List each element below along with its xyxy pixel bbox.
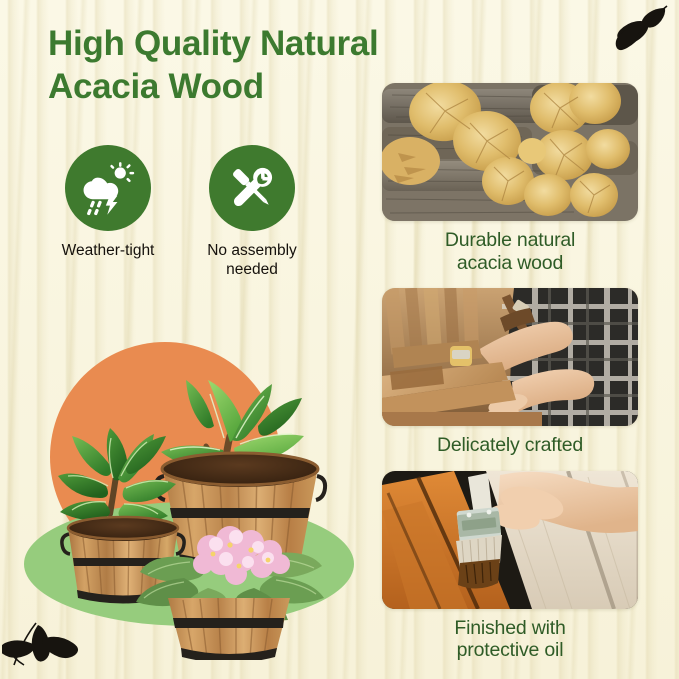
- leaf-sprig-bottom-left: [2, 609, 84, 675]
- stacked-acacia-logs-photo: [382, 83, 638, 221]
- feature-label: No assembly needed: [207, 242, 297, 279]
- card-caption: Durable natural acacia wood: [382, 221, 638, 280]
- weather-badge-circle: [65, 145, 151, 231]
- weather-cloud-sun-lightning-icon: [79, 159, 137, 217]
- product-infographic: High Quality Natural Acacia Wood: [0, 0, 679, 679]
- feature-weather-tight: Weather-tight: [50, 145, 166, 279]
- feature-no-assembly: No assembly needed: [194, 145, 310, 279]
- card-delicately-crafted: Delicately crafted: [382, 288, 638, 463]
- leaf-sprig-top-right: [603, 2, 669, 58]
- fiddle-leaf-leaves: [58, 428, 176, 523]
- tools-badge-circle: [209, 145, 295, 231]
- card-caption: Finished with protective oil: [382, 609, 638, 668]
- wrench-screwdriver-icon: [225, 161, 279, 215]
- craftsperson-measuring-wood-photo: [382, 288, 638, 426]
- feature-badges: Weather-tight: [50, 145, 310, 279]
- card-finished-with-protective-oil: Finished with protective oil: [382, 471, 638, 668]
- feature-label: Weather-tight: [62, 242, 155, 261]
- page-title: High Quality Natural Acacia Wood: [48, 22, 388, 108]
- card-durable-natural-acacia-wood: Durable natural acacia wood: [382, 83, 638, 280]
- paintbrush-oiling-decking-photo: [382, 471, 638, 609]
- photo-card-list: Durable natural acacia wood: [382, 83, 638, 676]
- card-caption: Delicately crafted: [382, 426, 638, 463]
